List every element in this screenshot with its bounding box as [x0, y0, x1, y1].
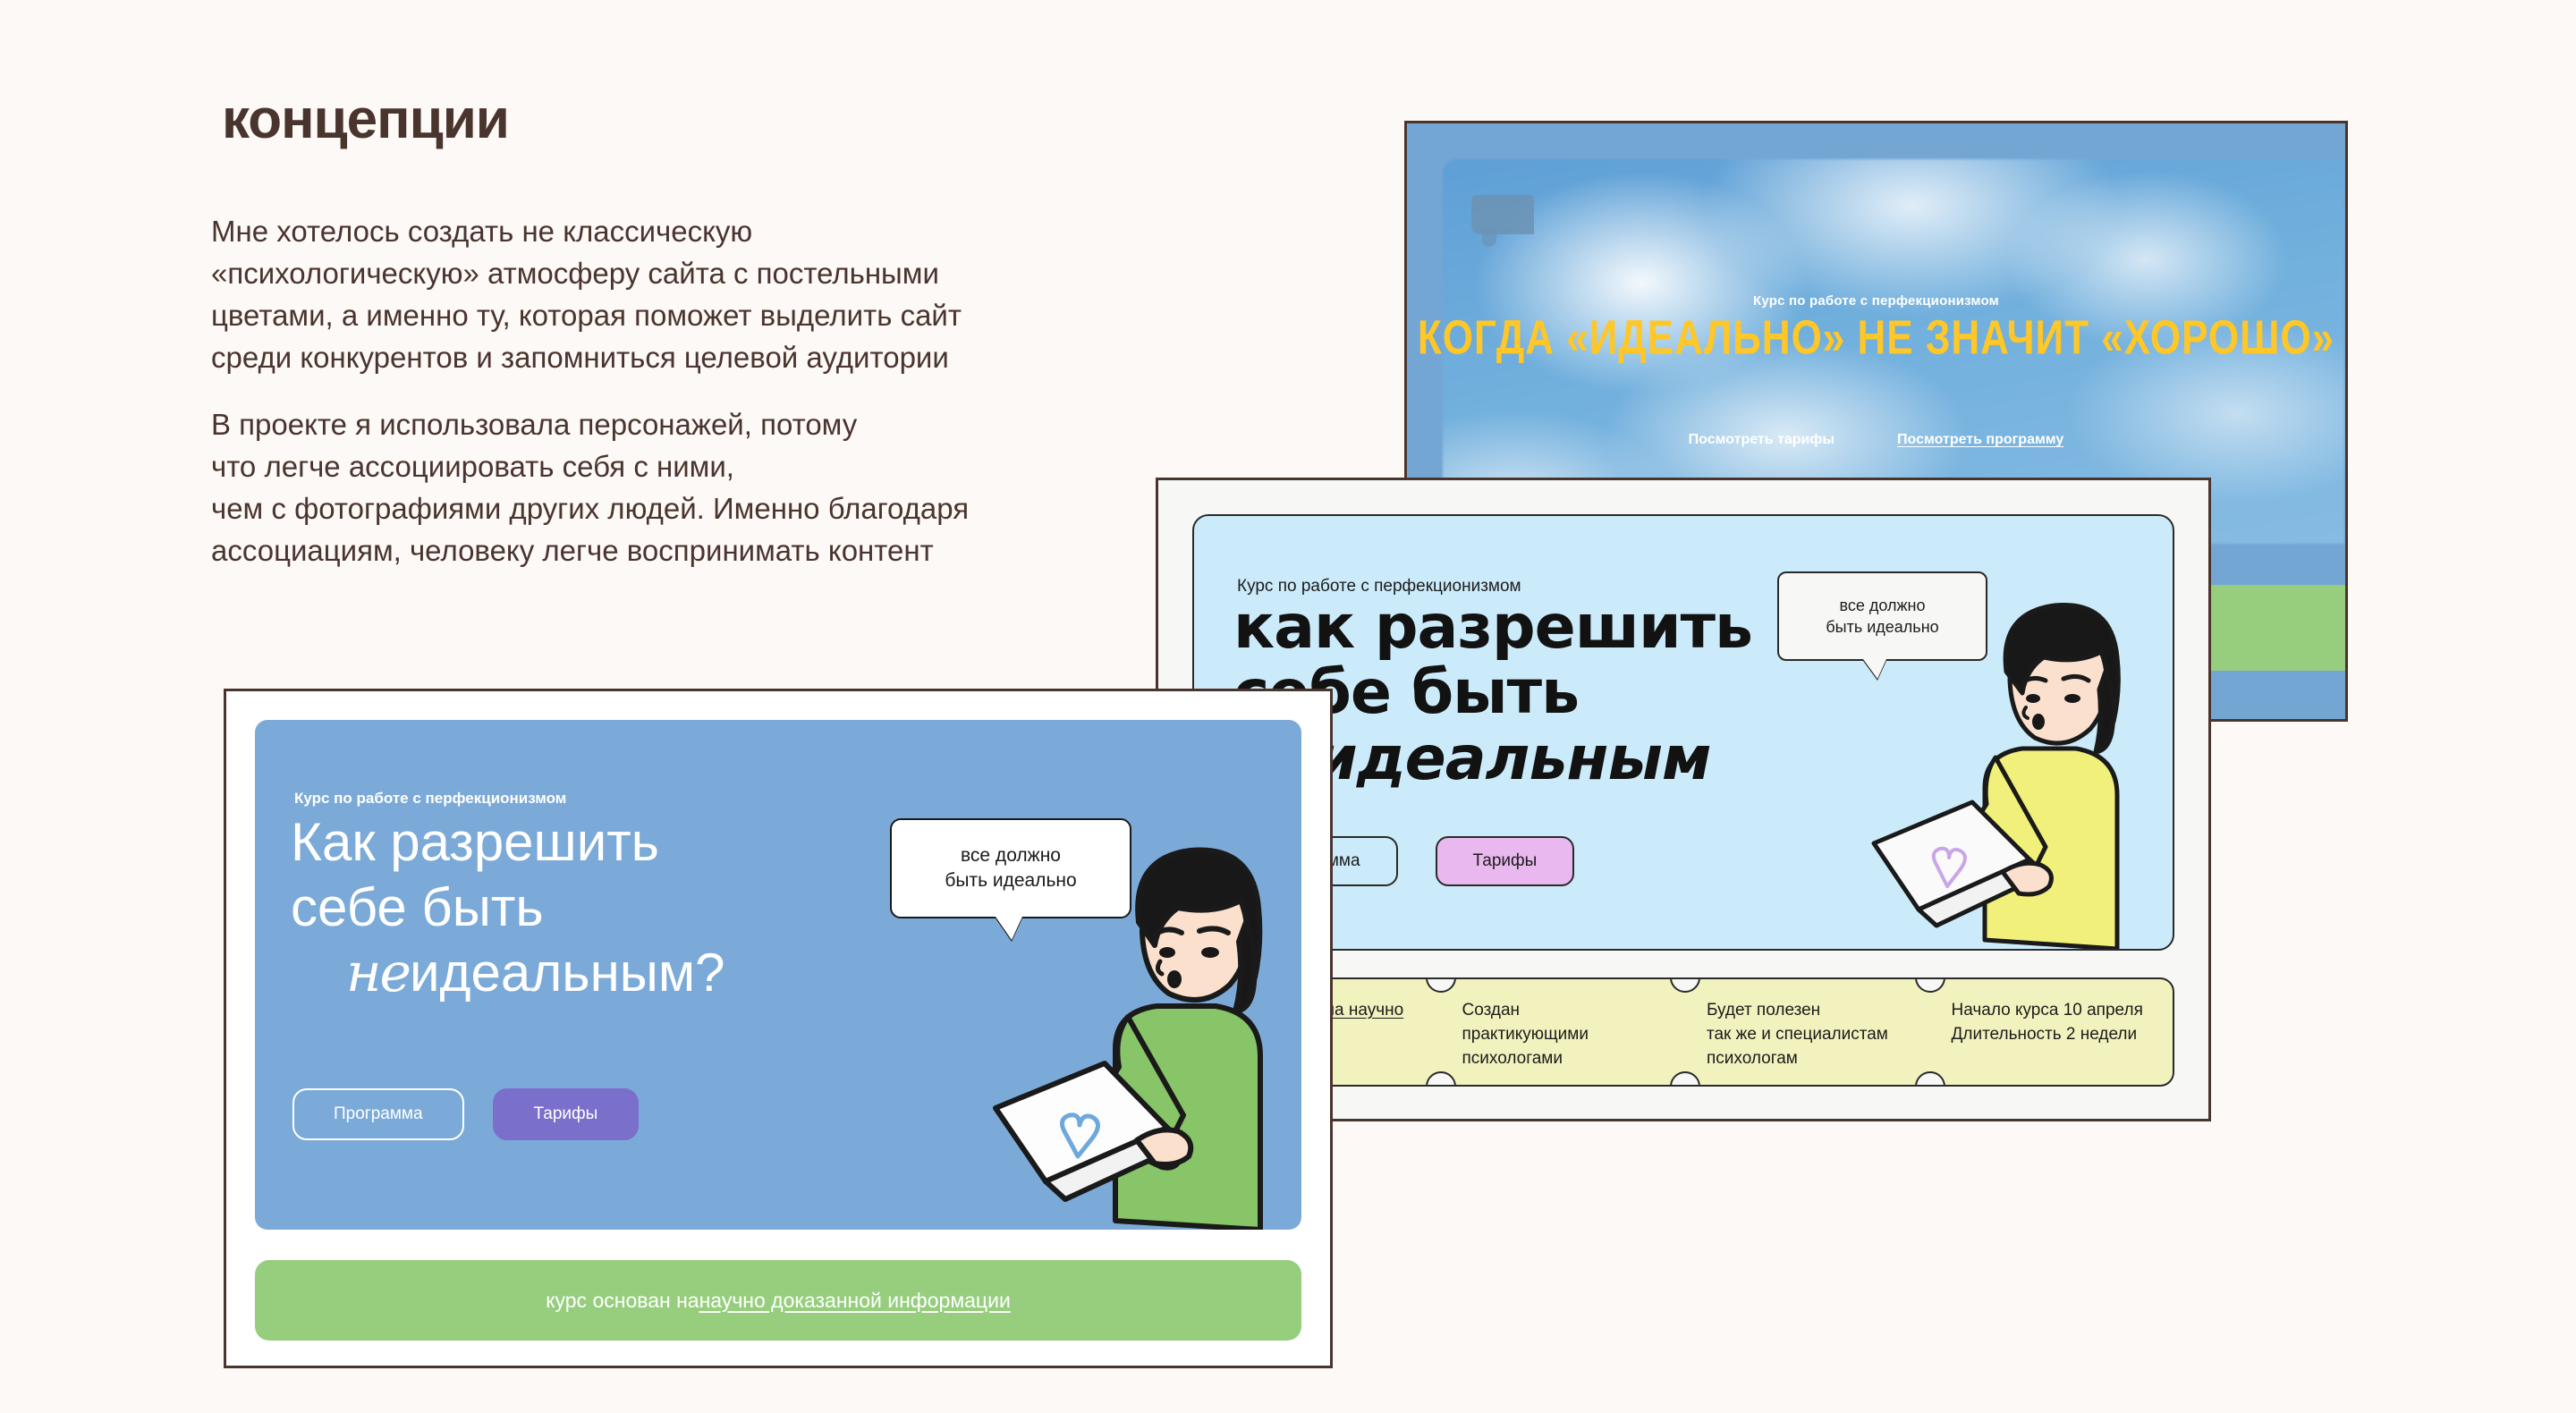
- poster-canvas: концепции Мне хотелось создать не класси…: [0, 0, 2576, 1413]
- front-footer-prefix: курс основан на: [546, 1289, 699, 1313]
- mockup-front-card: Курс по работе с перфекционизмом Как раз…: [224, 689, 1333, 1368]
- front-tariffs-button[interactable]: Тарифы: [493, 1088, 640, 1140]
- paragraph-concept: Мне хотелось создать не классическую «пс…: [211, 211, 962, 378]
- front-character-illustration: все должно быть идеально: [881, 809, 1292, 1230]
- front-kicker: Курс по работе с перфекционизмом: [294, 790, 566, 808]
- mid-character-illustration: все должно быть идеально: [1761, 564, 2137, 949]
- front-green-footer: курс основан на научно доказанной информ…: [255, 1260, 1301, 1341]
- front-program-button[interactable]: Программа: [292, 1088, 464, 1140]
- mid-headline-line1: как разрешить: [1233, 592, 1752, 663]
- front-headline: Как разрешить себе быть неидеальным?: [291, 809, 724, 1007]
- front-headline-ne: не: [346, 942, 410, 1004]
- mid-info-strip: курс основан на научно доказанной Создан…: [1192, 977, 2174, 1087]
- link-view-program[interactable]: Посмотреть программу: [1897, 432, 2063, 448]
- mid-headline-line3: идеальным: [1315, 723, 1710, 794]
- sky-kicker: Курс по работе с перфекционизмом: [1407, 293, 2345, 309]
- front-footer-link[interactable]: научно доказанной информации: [699, 1289, 1011, 1313]
- brand-logo-icon: [1471, 195, 1534, 234]
- front-hero-panel: Курс по работе с перфекционизмом Как раз…: [255, 720, 1301, 1230]
- front-headline-line3: идеальным?: [410, 943, 724, 1003]
- link-view-tariffs[interactable]: Посмотреть тарифы: [1689, 432, 1835, 448]
- sky-link-row: Посмотреть тарифы Посмотреть программу: [1407, 432, 2345, 448]
- front-headline-line1: Как разрешить: [291, 812, 659, 872]
- strip-cell-1: Создан практикующими психологами: [1439, 979, 1684, 1085]
- mid-tariffs-button[interactable]: Тарифы: [1436, 836, 1575, 886]
- front-headline-line2: себе быть: [291, 877, 544, 937]
- page-title: концепции: [222, 88, 509, 151]
- mid-speech-bubble: все должно быть идеально: [1777, 571, 1987, 661]
- strip-cell-2: Будет полезен так же и специалистам псих…: [1683, 979, 1928, 1085]
- front-speech-bubble: все должно быть идеально: [890, 818, 1131, 918]
- mid-hero-panel: Курс по работе с перфекционизмом как раз…: [1192, 514, 2174, 951]
- paragraph-characters: В проекте я использовала персонажей, пот…: [211, 404, 969, 571]
- strip-cell-3: Начало курса 10 апреля Длительность 2 не…: [1928, 979, 2173, 1085]
- front-button-row: Программа Тарифы: [292, 1088, 639, 1140]
- sky-headline: КОГДА «ИДЕАЛЬНО» НЕ ЗНАЧИТ «ХОРОШО»: [1407, 311, 2345, 366]
